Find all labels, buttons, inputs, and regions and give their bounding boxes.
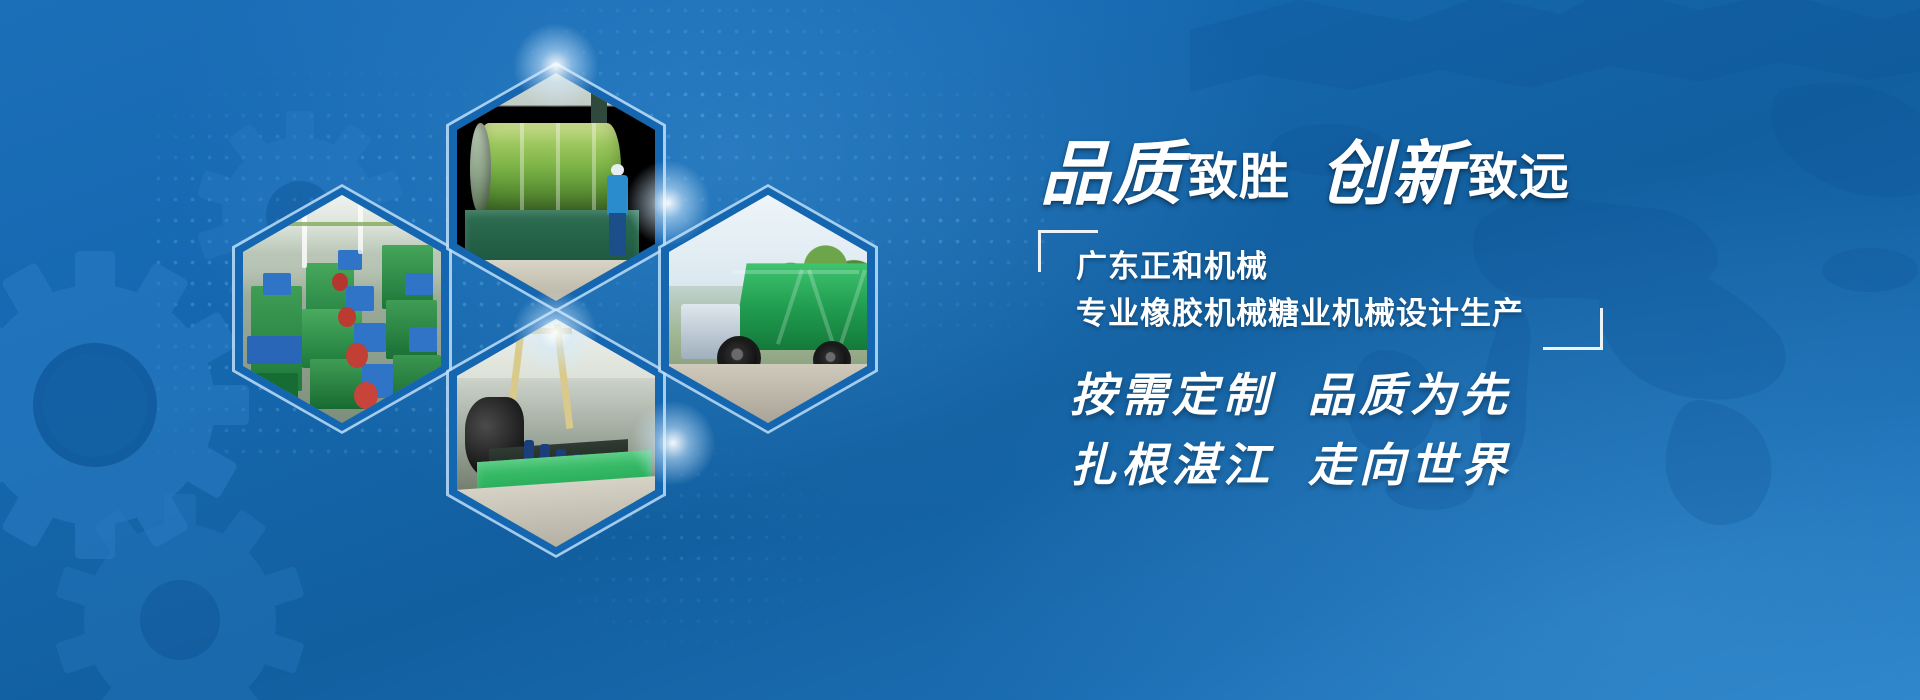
slogan-row-2: 扎根湛江走向世界 (1070, 430, 1512, 500)
hexagon-photo-cluster (0, 0, 900, 700)
headline-part2-light: 致远 (1468, 148, 1570, 206)
headline-part2-strong: 创新 (1320, 132, 1464, 215)
slogan-1-left: 按需定制 (1070, 368, 1274, 422)
promo-banner: 品质致胜创新致远 广东正和机械 专业橡胶机械糖业机械设计生产 按需定制品质为先 … (0, 0, 1920, 700)
slogan-block: 按需定制品质为先 扎根湛江走向世界 (1070, 360, 1512, 500)
slogan-2-right: 走向世界 (1308, 438, 1512, 492)
slogan-2-left: 扎根湛江 (1070, 438, 1274, 492)
hex-photo-factory-production-line (243, 195, 441, 423)
subtitle-bracket-frame: 广东正和机械 专业橡胶机械糖业机械设计生产 (1038, 230, 1603, 350)
hex-photo-rotary-drum-machine (457, 73, 655, 301)
subtitle-line-2: 专业橡胶机械糖业机械设计生产 (1076, 291, 1524, 338)
subtitle: 广东正和机械 专业橡胶机械糖业机械设计生产 (1076, 244, 1524, 338)
bracket-bottom-right (1543, 308, 1603, 350)
banner-copy: 品质致胜创新致远 广东正和机械 专业橡胶机械糖业机械设计生产 按需定制品质为先 … (1030, 0, 1790, 700)
hex-photo-green-trailer-truck (669, 195, 867, 423)
headline-part1-light: 致胜 (1188, 148, 1290, 206)
subtitle-line-1: 广东正和机械 (1076, 244, 1524, 291)
headline-part1-strong: 品质 (1040, 132, 1184, 215)
hex-photo-belt-conveyor (457, 319, 655, 547)
headline: 品质致胜创新致远 (1040, 118, 1570, 219)
slogan-row-1: 按需定制品质为先 (1070, 360, 1512, 430)
slogan-1-right: 品质为先 (1308, 368, 1512, 422)
